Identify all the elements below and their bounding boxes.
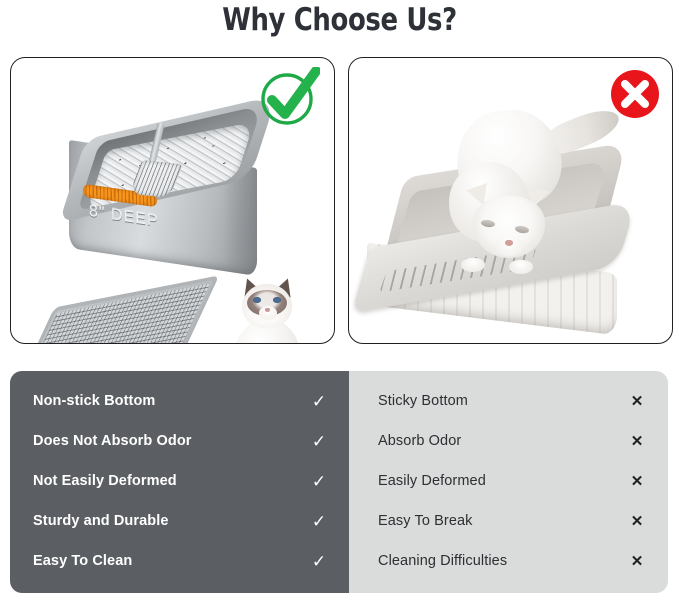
honeycomb-mat: [15, 275, 220, 344]
cons-row: Easily Deformed ✕: [349, 461, 668, 501]
pros-row: Easy To Clean ✓: [10, 541, 350, 581]
red-cross-badge-icon: [610, 69, 660, 119]
check-icon: ✓: [310, 553, 328, 570]
cross-icon: ✕: [628, 474, 646, 489]
pros-label: Non-stick Bottom: [33, 393, 310, 409]
white-cat-nose: [505, 240, 513, 246]
white-cat-muzzle: [495, 236, 523, 256]
pros-row: Does Not Absorb Odor ✓: [10, 421, 350, 461]
cross-icon: ✕: [628, 554, 646, 569]
cons-row: Sticky Bottom ✕: [349, 381, 668, 421]
pros-label: Easy To Clean: [33, 553, 310, 569]
check-icon: ✓: [310, 473, 328, 490]
cons-label: Easy To Break: [378, 513, 628, 529]
cons-label: Sticky Bottom: [378, 393, 628, 409]
check-icon: ✓: [310, 513, 328, 530]
ragdoll-cat-nose: [265, 308, 270, 312]
good-product-image-card[interactable]: 8" DEEP: [10, 57, 335, 344]
pros-label: Does Not Absorb Odor: [33, 433, 310, 449]
pros-label: Not Easily Deformed: [33, 473, 310, 489]
check-icon: ✓: [310, 433, 328, 450]
pros-label: Sturdy and Durable: [33, 513, 310, 529]
cons-row: Absorb Odor ✕: [349, 421, 668, 461]
ragdoll-cat-eye-left: [253, 297, 261, 303]
cons-label: Absorb Odor: [378, 433, 628, 449]
cons-label: Easily Deformed: [378, 473, 628, 489]
green-check-badge-icon: [258, 67, 320, 129]
bad-product-image-card[interactable]: [348, 57, 673, 344]
white-cat-paw-left: [461, 258, 485, 272]
white-cat-paw-right: [509, 260, 533, 274]
pros-row: Not Easily Deformed ✓: [10, 461, 350, 501]
cross-icon: ✕: [628, 514, 646, 529]
pros-row: Non-stick Bottom ✓: [10, 381, 350, 421]
pros-panel: Non-stick Bottom ✓ Does Not Absorb Odor …: [10, 371, 350, 593]
pros-row: Sturdy and Durable ✓: [10, 501, 350, 541]
check-icon: ✓: [310, 393, 328, 410]
cross-icon: ✕: [628, 434, 646, 449]
cons-panel: Sticky Bottom ✕ Absorb Odor ✕ Easily Def…: [349, 371, 668, 593]
ragdoll-cat-eye-right: [273, 297, 281, 303]
cons-row: Easy To Break ✕: [349, 501, 668, 541]
cons-row: Cleaning Difficulties ✕: [349, 541, 668, 581]
cons-label: Cleaning Difficulties: [378, 553, 628, 569]
page-title: Why Choose Us?: [24, 2, 655, 38]
cross-icon: ✕: [628, 394, 646, 409]
